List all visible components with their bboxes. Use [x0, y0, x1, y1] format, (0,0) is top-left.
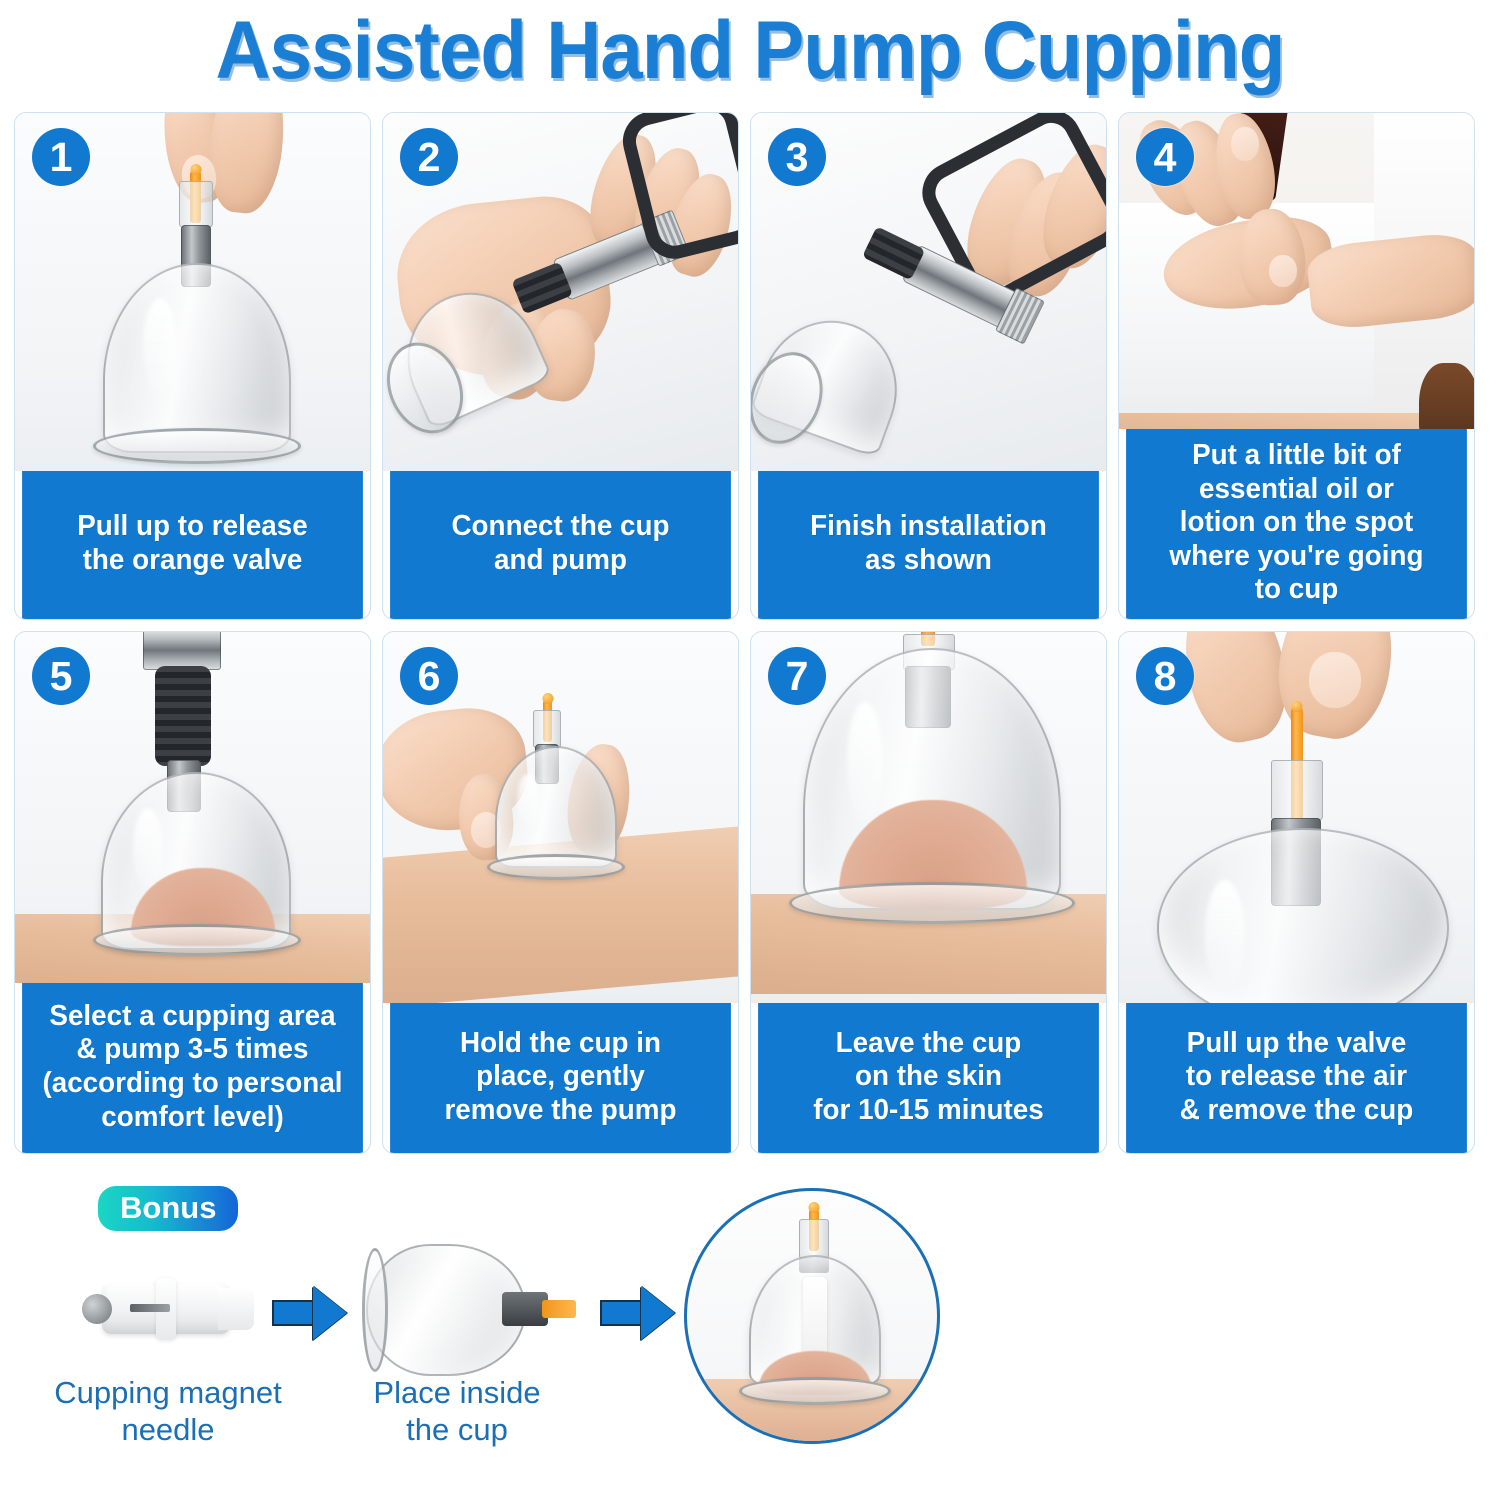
infographic-page: Assisted Hand Pump Cupping Pull up to re…: [0, 0, 1500, 1500]
step-card-3: Finish installation as shown 3: [750, 112, 1107, 620]
place-inside-cup-image: [356, 1240, 566, 1382]
step-card-4: Put a little bit of essential oil or lot…: [1118, 112, 1475, 620]
cup-rim: [93, 428, 301, 464]
cup-with-needle-circle-image: [684, 1188, 940, 1444]
bonus-section: Bonus Cupping magnet needle Place inside…: [0, 1178, 1500, 1478]
step-caption-4: Put a little bit of essential oil or lot…: [1126, 429, 1467, 619]
orange-valve: [542, 1300, 576, 1318]
valve-collar: [1271, 760, 1323, 820]
step-number-badge-2: 2: [400, 128, 458, 186]
cup-rim: [93, 924, 301, 956]
step-number-badge-1: 1: [32, 128, 90, 186]
step-caption-8: Pull up the valve to release the air & r…: [1126, 1003, 1467, 1153]
step-caption-2: Connect the cup and pump: [390, 471, 731, 619]
cup-rim: [362, 1248, 388, 1372]
step-number-badge-7: 7: [768, 647, 826, 705]
step-number-badge-5: 5: [32, 647, 90, 705]
valve-collar: [179, 181, 213, 227]
step-caption-6: Hold the cup in place, gently remove the…: [390, 1003, 731, 1153]
cup-rim: [789, 882, 1075, 924]
step-caption-1: Pull up to release the orange valve: [22, 471, 363, 619]
place-inside-label: Place inside the cup: [312, 1374, 602, 1448]
step-card-6: Hold the cup in place, gently remove the…: [382, 631, 739, 1154]
step-card-1: Pull up to release the orange valve 1: [14, 112, 371, 620]
step-card-5: Select a cupping area & pump 3-5 times (…: [14, 631, 371, 1154]
page-title: Assisted Hand Pump Cupping: [53, 8, 1448, 94]
arrow-right-icon-2: [600, 1286, 678, 1340]
cupping-magnet-needle-image: [68, 1264, 268, 1356]
hair: [1419, 363, 1474, 429]
step-number-badge-6: 6: [400, 647, 458, 705]
bonus-badge: Bonus: [98, 1186, 238, 1231]
step-caption-7: Leave the cup on the skin for 10-15 minu…: [758, 1003, 1099, 1153]
step-card-8: Pull up the valve to release the air & r…: [1118, 631, 1475, 1154]
step-card-7: Leave the cup on the skin for 10-15 minu…: [750, 631, 1107, 1154]
needle-label: Cupping magnet needle: [20, 1374, 316, 1448]
steps-grid: Pull up to release the orange valve 1: [14, 112, 1486, 1154]
cup-rim: [487, 854, 625, 880]
step-card-2: Connect the cup and pump 2: [382, 112, 739, 620]
pump-connector: [155, 666, 211, 766]
step-number-badge-8: 8: [1136, 647, 1194, 705]
arrow-right-icon-1: [272, 1286, 350, 1340]
step-caption-3: Finish installation as shown: [758, 471, 1099, 619]
step-number-badge-3: 3: [768, 128, 826, 186]
valve-collar: [533, 710, 561, 748]
step-number-badge-4: 4: [1136, 128, 1194, 186]
step-caption-5: Select a cupping area & pump 3-5 times (…: [22, 983, 363, 1153]
pump-barrel: [143, 632, 221, 670]
